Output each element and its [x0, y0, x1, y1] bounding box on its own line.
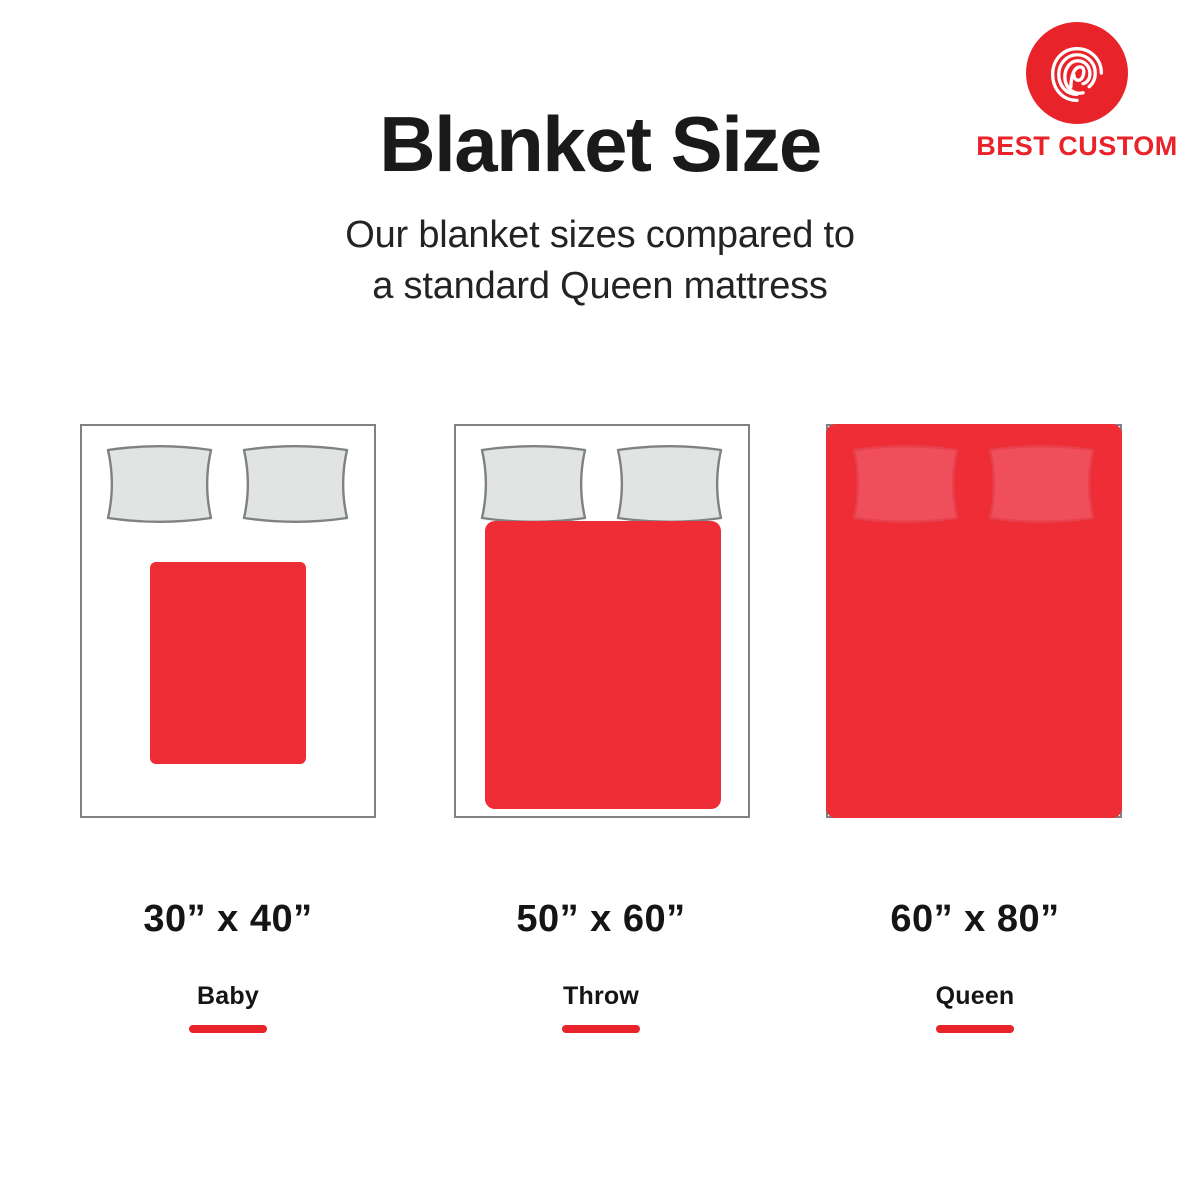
bed-diagram-queen — [826, 424, 1122, 818]
size-label-queen: 60” x 80” Queen — [795, 900, 1155, 1033]
size-label-baby: 30” x 40” Baby — [48, 900, 408, 1033]
pillow-icon — [612, 444, 727, 524]
bed-comparison-row — [0, 424, 1200, 824]
pillow-icon — [848, 444, 963, 524]
pillow-icon — [984, 444, 1099, 524]
pillow-icon — [476, 444, 591, 524]
size-dimensions: 50” x 60” — [421, 900, 781, 938]
page-title: Blanket Size — [0, 104, 1200, 186]
size-name: Baby — [48, 984, 408, 1009]
bed-diagram-baby — [80, 424, 376, 818]
size-name: Throw — [421, 984, 781, 1009]
pillow-icon — [102, 444, 217, 524]
page-subtitle: Our blanket sizes compared to a standard… — [0, 210, 1200, 313]
subtitle-line-2: a standard Queen mattress — [0, 261, 1200, 312]
blanket-overlay-throw — [485, 521, 721, 809]
bed-diagram-throw — [454, 424, 750, 818]
accent-underline — [562, 1025, 640, 1033]
accent-underline — [189, 1025, 267, 1033]
heading-block: Blanket Size Our blanket sizes compared … — [0, 104, 1200, 312]
size-labels-row: 30” x 40” Baby 50” x 60” Throw 60” x 80”… — [0, 900, 1200, 1050]
subtitle-line-1: Our blanket sizes compared to — [0, 210, 1200, 261]
pillow-icon — [238, 444, 353, 524]
size-dimensions: 60” x 80” — [795, 900, 1155, 938]
size-name: Queen — [795, 984, 1155, 1009]
size-label-throw: 50” x 60” Throw — [421, 900, 781, 1033]
blanket-size-infographic: BEST CUSTOM Blanket Size Our blanket siz… — [0, 0, 1200, 1200]
blanket-overlay-baby — [150, 562, 306, 764]
size-dimensions: 30” x 40” — [48, 900, 408, 938]
accent-underline — [936, 1025, 1014, 1033]
